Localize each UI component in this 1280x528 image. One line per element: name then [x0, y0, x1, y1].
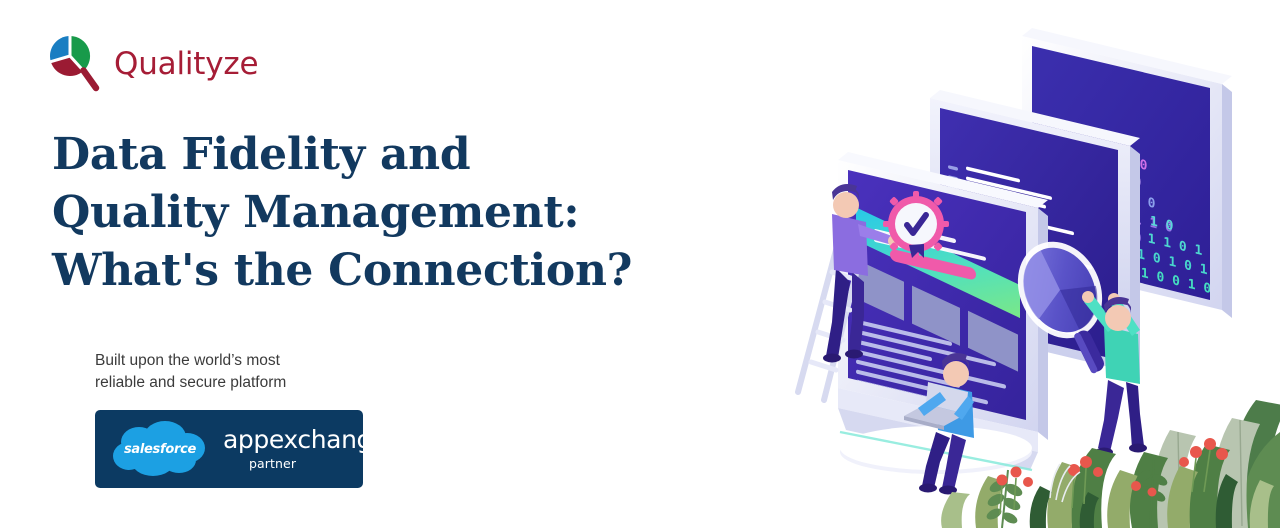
headline-line-3: What's the Connection?: [52, 242, 632, 300]
appexchange-title: appexchange: [223, 427, 387, 453]
brand-logo[interactable]: Qualityze: [48, 36, 258, 92]
hero-banner: Qualityze Data Fidelity and Quality Mana…: [0, 0, 1280, 528]
subtitle-line-2: reliable and secure platform: [95, 372, 286, 394]
salesforce-appexchange-partner-badge[interactable]: salesforce appexchange partner: [95, 410, 363, 488]
subtitle-text: Built upon the world’s most reliable and…: [95, 350, 286, 394]
svg-text:1 0 0 1 0 1 1 0 1 0 1 0: 1 0 0 1 0 1 1 0 1 0 1 0: [1058, 356, 1238, 413]
headline-line-2: Quality Management:: [52, 184, 632, 242]
subtitle-line-1: Built upon the world’s most: [95, 350, 286, 372]
quality-check-badge: [883, 191, 949, 258]
salesforce-cloud-label: salesforce: [109, 420, 211, 478]
left-content-column: Qualityze Data Fidelity and Quality Mana…: [48, 0, 748, 528]
page-title: Data Fidelity and Quality Management: Wh…: [52, 126, 632, 300]
isometric-data-quality-illustration: 1 0 1 0 1 1 0 1 0 1 0 1 0 1 1 0 1 1 0 1 …: [740, 0, 1280, 528]
appexchange-subtitle: partner: [249, 456, 387, 471]
appexchange-text-group: appexchange partner: [223, 427, 387, 471]
headline-line-1: Data Fidelity and: [52, 126, 632, 184]
magnifier-pie-logo-icon: [48, 36, 102, 92]
brand-wordmark: Qualityze: [114, 49, 258, 80]
salesforce-cloud-logo: salesforce: [109, 420, 211, 478]
